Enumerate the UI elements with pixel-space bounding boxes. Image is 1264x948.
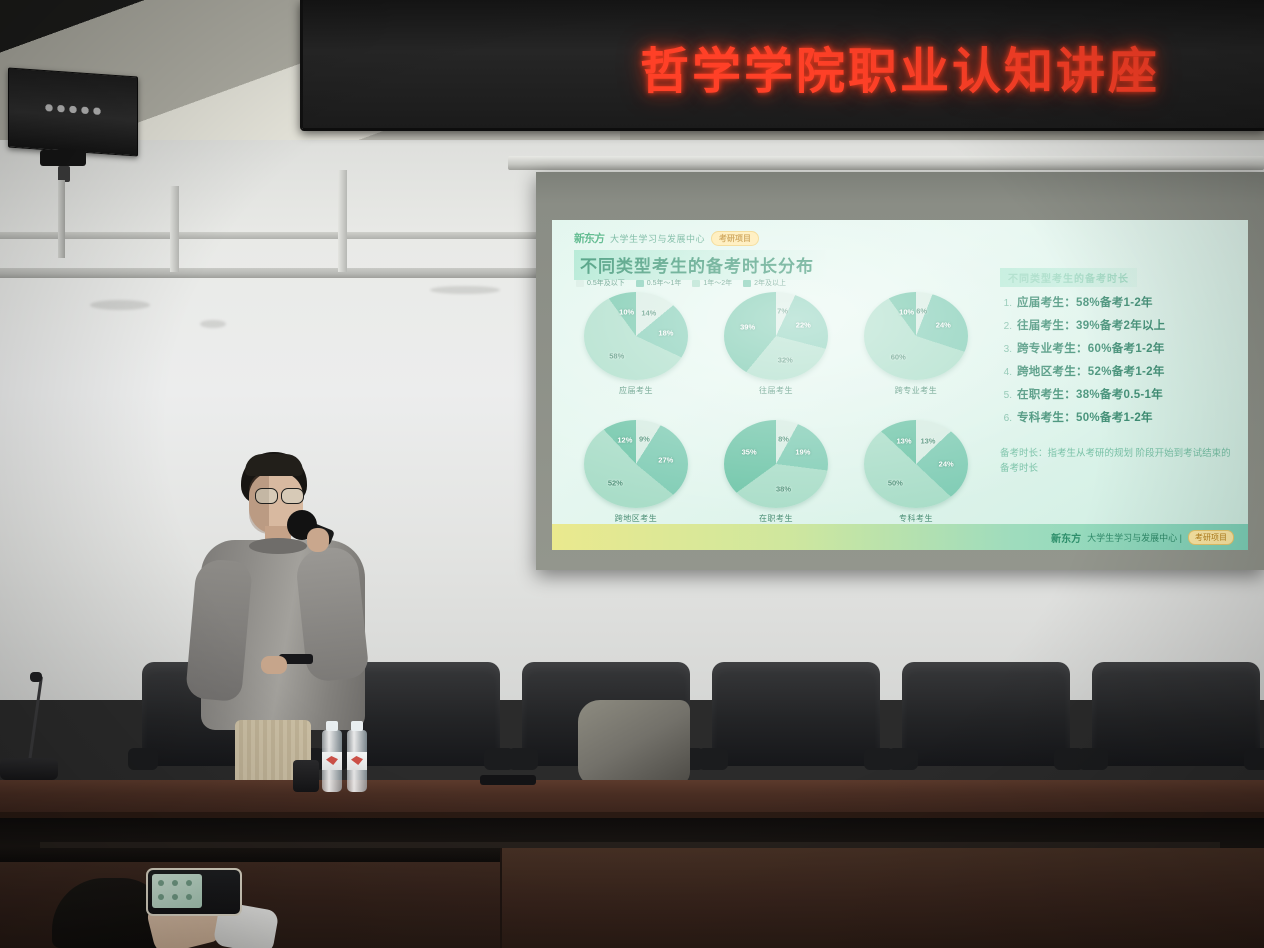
list-item-text: 跨地区考生：52%备考1-2年: [1017, 363, 1165, 379]
pie-chart-label: 往届考生: [706, 385, 846, 396]
footer-tag-badge: 考研项目: [1188, 530, 1234, 545]
list-item-text: 应届考生：58%备考1-2年: [1017, 294, 1153, 310]
camera-pole: [58, 180, 65, 258]
phone-screen-dot: [172, 880, 178, 886]
speaker-grille-icon: [43, 103, 101, 116]
screen-bracket: [170, 186, 179, 272]
chair-back: [1092, 662, 1260, 766]
legend-label: 2年及以上: [754, 278, 786, 288]
chair: [698, 662, 894, 784]
pie-chart-label: 跨地区考生: [566, 513, 706, 524]
wall-mark: [430, 286, 500, 294]
chair-arm: [1078, 748, 1108, 770]
chair-arm: [698, 748, 728, 770]
phone-on-table: [480, 775, 536, 785]
legend-label: 1年～2年: [703, 278, 732, 288]
list-item: 5. 在职考生：38%备考0.5-1年: [1000, 386, 1238, 402]
pie-slices: [724, 420, 828, 508]
footer-logo: 新东方: [1051, 530, 1081, 545]
chair: [1078, 662, 1264, 784]
pie-slice-value: 24%: [936, 321, 951, 330]
pie-slice-value: 24%: [939, 460, 954, 469]
wall-mark: [200, 320, 226, 328]
glasses-lens: [281, 488, 304, 504]
water-bottle: [347, 730, 367, 792]
head-table: [0, 780, 1264, 816]
chair-back: [712, 662, 880, 766]
slide-footer-bar: 新东方 大学生学习与发展中心 | 考研项目: [552, 524, 1248, 550]
pie-slice-value: 10%: [899, 307, 914, 316]
glasses-icon: [255, 488, 309, 502]
phone-screen-dot: [186, 880, 192, 886]
pie-slice-value: 27%: [658, 456, 673, 465]
lecture-hall-photo: 哲学学院职业认知讲座 新东方 大学生学习与发展中心 考研项目 不同类型考生的备考…: [0, 0, 1264, 948]
legend-label: 0.5年及以下: [587, 278, 625, 288]
legend-item: 0.5年～1年: [636, 278, 682, 288]
pie-slice-value: 58%: [609, 351, 624, 360]
list-item-text: 往届考生：39%备考2年以上: [1017, 317, 1166, 333]
chair: [888, 662, 1084, 784]
list-item-number: 5.: [1000, 390, 1012, 401]
pie-slice-value: 6%: [916, 306, 927, 315]
presenter-right-hand: [307, 528, 329, 552]
brand-subtitle: 大学生学习与发展中心: [610, 232, 705, 245]
chair-back: [902, 662, 1070, 766]
pie-slice-value: 13%: [920, 436, 935, 445]
pie-slices: [864, 292, 968, 380]
brand-tag-badge: 考研项目: [711, 231, 759, 246]
pie-slice-value: 9%: [639, 435, 650, 444]
glasses-lens: [255, 488, 278, 504]
presenter-left-hand: [261, 656, 287, 674]
wall-rail-upper: [0, 232, 560, 239]
pie-slice-value: 7%: [777, 307, 788, 316]
pie-slice-value: 35%: [742, 448, 757, 457]
slide-title: 不同类型考生的备考时长分布: [574, 250, 828, 280]
bottle-cap: [351, 721, 363, 731]
desk-mic-base: [0, 758, 58, 780]
pie-slice-value: 13%: [897, 436, 912, 445]
pie-slice-value: 50%: [888, 478, 903, 487]
chart-legend: 0.5年及以下 0.5年～1年 1年～2年 2年及以上: [576, 278, 786, 288]
front-row-desk-right: [500, 848, 1264, 948]
pie-slice-value: 10%: [619, 307, 634, 316]
list-item-text: 跨专业考生：60%备考1-2年: [1017, 340, 1165, 356]
pie-chart: 14%18%58%10%应届考生: [566, 292, 706, 414]
legend-item: 0.5年及以下: [576, 278, 625, 288]
legend-swatch: [576, 280, 584, 287]
pie-chart-label: 在职考生: [706, 513, 846, 524]
sweater-collar: [249, 538, 307, 554]
list-item: 2. 往届考生：39%备考2年以上: [1000, 317, 1238, 333]
wall-mark: [90, 300, 150, 310]
legend-swatch: [636, 280, 644, 287]
legend-label: 0.5年～1年: [647, 278, 682, 288]
pie-slice-value: 19%: [795, 448, 810, 457]
desk-mic-stem: [28, 676, 43, 762]
pie-slice-value: 39%: [740, 323, 755, 332]
projection-screen-roller: [508, 156, 1264, 170]
list-item: 6. 专科考生：50%备考1-2年: [1000, 409, 1238, 425]
pie-chart-grid: 14%18%58%10%应届考生7%22%32%39%往届考生6%24%60%1…: [566, 292, 986, 542]
pie-slice-value: 12%: [617, 436, 632, 445]
list-item: 4. 跨地区考生：52%备考1-2年: [1000, 363, 1238, 379]
pie-slice-value: 18%: [658, 328, 673, 337]
pie-chart: 7%22%32%39%往届考生: [706, 292, 846, 414]
slide-brand-row: 新东方 大学生学习与发展中心 考研项目: [574, 230, 759, 246]
audience-phone: [146, 868, 242, 916]
water-bottle: [322, 730, 342, 792]
led-banner-text: 哲学学院职业认知讲座: [575, 36, 1225, 98]
screen-bracket: [338, 170, 347, 272]
legend-swatch: [743, 280, 751, 287]
desk-microphone: [0, 672, 60, 784]
summary-list: 不同类型考生的备考时长 1. 应届考生：58%备考1-2年 2. 往届考生：39…: [1000, 268, 1238, 476]
bottle-cap: [326, 721, 338, 731]
pie-slice-value: 52%: [608, 478, 623, 487]
footer-text: 大学生学习与发展中心 |: [1087, 531, 1182, 544]
legend-item: 1年～2年: [692, 278, 732, 288]
projection-screen: 新东方 大学生学习与发展中心 考研项目 不同类型考生的备考时长分布 0.5年及以…: [536, 172, 1264, 570]
pie-slice-value: 38%: [776, 484, 791, 493]
legend-item: 2年及以上: [743, 278, 786, 288]
pie-chart-label: 跨专业考生: [846, 385, 986, 396]
wall-notice: [255, 287, 259, 297]
phone-screen: [152, 874, 202, 908]
phone-screen-dot: [158, 880, 164, 886]
slide-footnote: 备考时长：指考生从考研的规划 阶段开始到考试结束的备考时长: [1000, 447, 1238, 476]
phone-screen-dot: [158, 894, 164, 900]
presenter-fringe: [245, 454, 303, 476]
pie-chart-label: 专科考生: [846, 513, 986, 524]
chair-arm: [888, 748, 918, 770]
list-item-text: 专科考生：50%备考1-2年: [1017, 409, 1153, 425]
chair-arm: [128, 748, 158, 770]
pie-chart-label: 应届考生: [566, 385, 706, 396]
pie-slice-value: 8%: [778, 435, 789, 444]
pie-chart: 6%24%60%10%跨专业考生: [846, 292, 986, 414]
jacket-on-chair: [578, 700, 690, 786]
pie-slice-value: 32%: [778, 356, 793, 365]
phone-screen-dot: [186, 894, 192, 900]
phone-screen-dot: [172, 894, 178, 900]
desk-mic-head-icon: [30, 672, 42, 682]
list-item-text: 在职考生：38%备考0.5-1年: [1017, 386, 1163, 402]
list-item-number: 3.: [1000, 344, 1012, 355]
list-item-number: 4.: [1000, 367, 1012, 378]
list-item: 3. 跨专业考生：60%备考1-2年: [1000, 340, 1238, 356]
list-item-number: 1.: [1000, 298, 1012, 309]
chair-arm: [1244, 748, 1264, 770]
pie-slice-value: 60%: [891, 352, 906, 361]
list-item: 1. 应届考生：58%备考1-2年: [1000, 294, 1238, 310]
xindongfang-logo: 新东方: [574, 230, 604, 246]
ceiling-speaker: [8, 67, 138, 156]
legend-swatch: [692, 280, 700, 287]
presentation-slide: 新东方 大学生学习与发展中心 考研项目 不同类型考生的备考时长分布 0.5年及以…: [552, 220, 1248, 550]
microphone-charging-base: [293, 760, 319, 792]
pie-slices: [724, 292, 828, 380]
summary-list-heading: 不同类型考生的备考时长: [1000, 268, 1137, 287]
list-item-number: 6.: [1000, 413, 1012, 424]
pie-slice-value: 22%: [796, 321, 811, 330]
ceiling-camera: [40, 150, 86, 166]
pie-slice-value: 14%: [641, 308, 656, 317]
list-item-number: 2.: [1000, 321, 1012, 332]
chair-arm: [508, 748, 538, 770]
